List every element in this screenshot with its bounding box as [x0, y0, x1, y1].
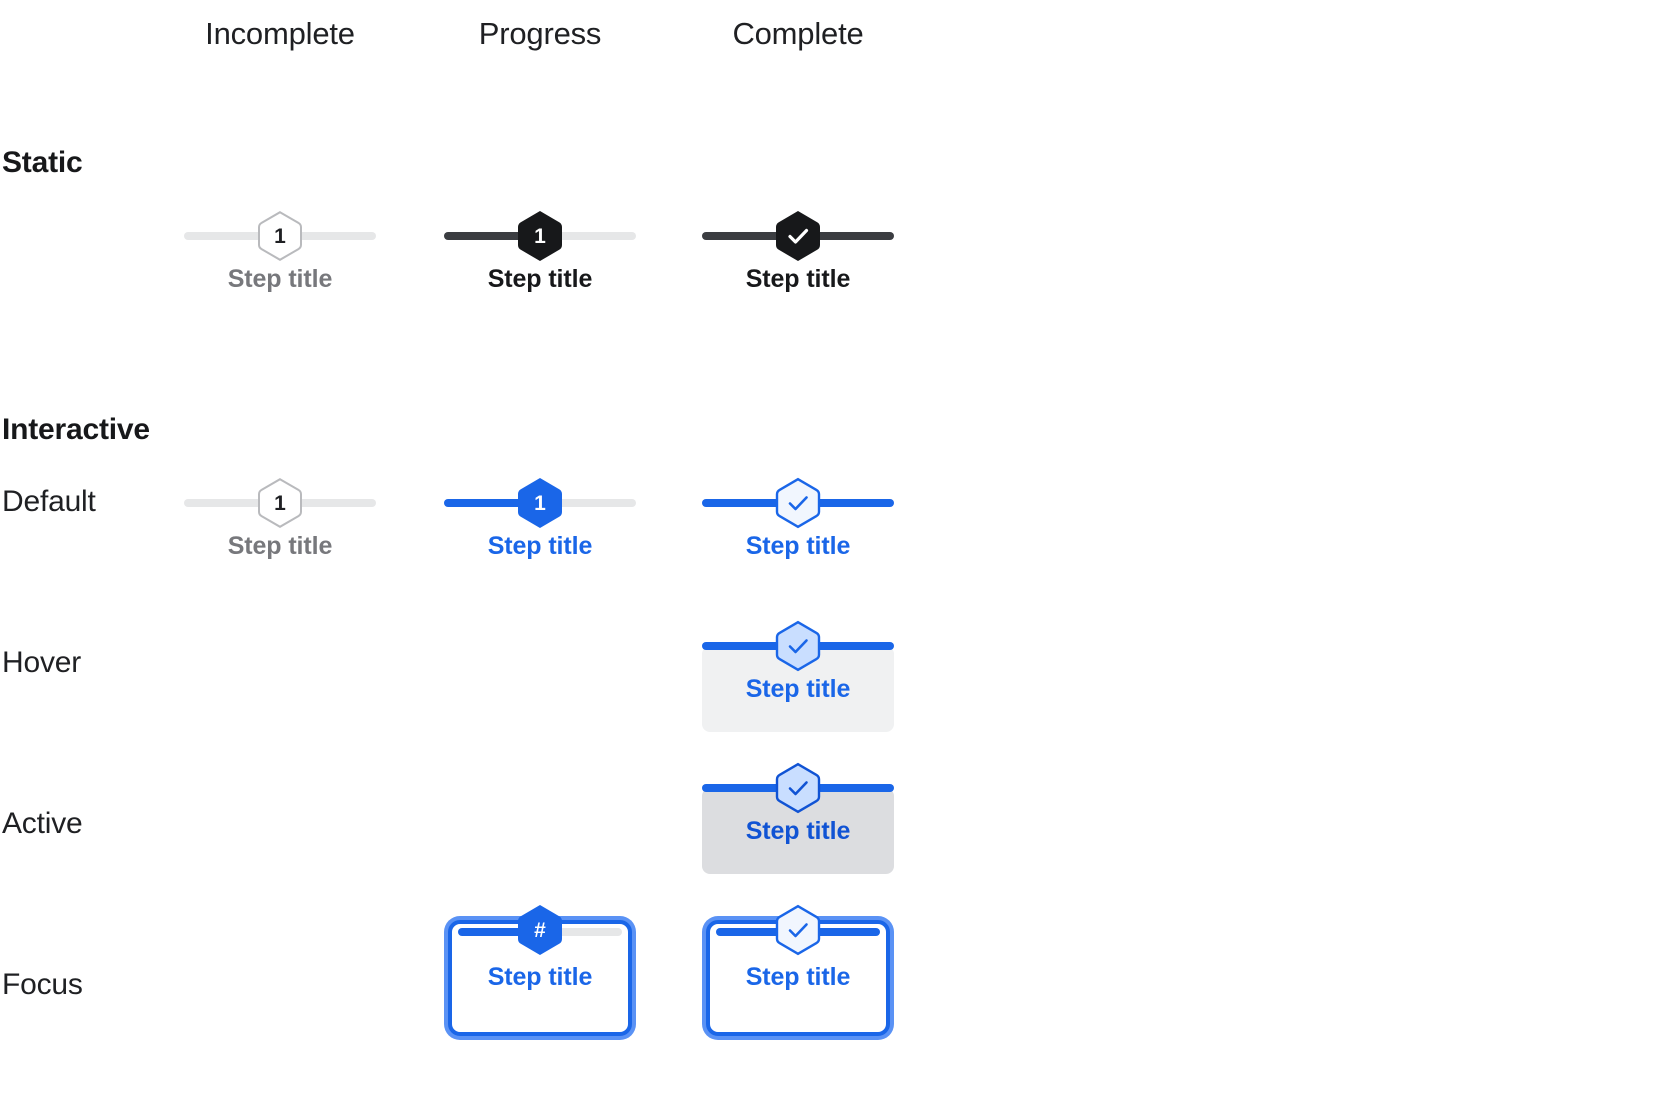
step-title[interactable]: Step title [702, 676, 894, 704]
hexagon-marker-icon [775, 210, 821, 262]
step-title[interactable]: Step title [444, 964, 636, 992]
hexagon-marker-icon: 1 [517, 210, 563, 262]
step-number: 1 [257, 210, 303, 262]
step-number: # [517, 904, 563, 956]
step-interactive-focus-complete[interactable]: Step title [702, 902, 894, 1012]
hexagon-marker-icon[interactable] [775, 477, 821, 529]
step-title[interactable]: Step title [702, 533, 894, 561]
step-interactive-default-progress[interactable]: 1 Step title [444, 475, 636, 585]
hexagon-marker-icon[interactable] [775, 620, 821, 672]
step-static-complete: Step title [702, 208, 894, 318]
row-label-focus: Focus [2, 970, 83, 1000]
step-title: Step title [702, 266, 894, 294]
row-label-default: Default [2, 487, 96, 517]
step-interactive-active-complete[interactable]: Step title [702, 760, 894, 870]
step-number: 1 [517, 477, 563, 529]
hexagon-marker-icon: 1 [257, 210, 303, 262]
column-header-incomplete: Incomplete [184, 18, 376, 49]
hexagon-marker-icon[interactable] [775, 904, 821, 956]
step-title[interactable]: Step title [184, 533, 376, 561]
hexagon-marker-icon[interactable]: 1 [257, 477, 303, 529]
section-label-interactive: Interactive [2, 415, 150, 445]
step-title[interactable]: Step title [702, 964, 894, 992]
hexagon-marker-icon[interactable]: 1 [517, 477, 563, 529]
column-header-complete: Complete [702, 18, 894, 49]
step-interactive-focus-progress[interactable]: # Step title [444, 902, 636, 1012]
step-title[interactable]: Step title [444, 533, 636, 561]
step-title: Step title [444, 266, 636, 294]
step-number: 1 [517, 210, 563, 262]
step-title[interactable]: Step title [702, 818, 894, 846]
step-interactive-default-complete[interactable]: Step title [702, 475, 894, 585]
step-interactive-default-incomplete[interactable]: 1 Step title [184, 475, 376, 585]
step-interactive-hover-complete[interactable]: Step title [702, 618, 894, 728]
column-header-progress: Progress [444, 18, 636, 49]
hexagon-marker-icon[interactable] [775, 762, 821, 814]
step-static-progress: 1 Step title [444, 208, 636, 318]
row-label-hover: Hover [2, 648, 81, 678]
step-static-incomplete: 1 Step title [184, 208, 376, 318]
hexagon-marker-icon[interactable]: # [517, 904, 563, 956]
section-label-static: Static [2, 148, 83, 178]
row-label-active: Active [2, 809, 83, 839]
step-number: 1 [257, 477, 303, 529]
step-title: Step title [184, 266, 376, 294]
